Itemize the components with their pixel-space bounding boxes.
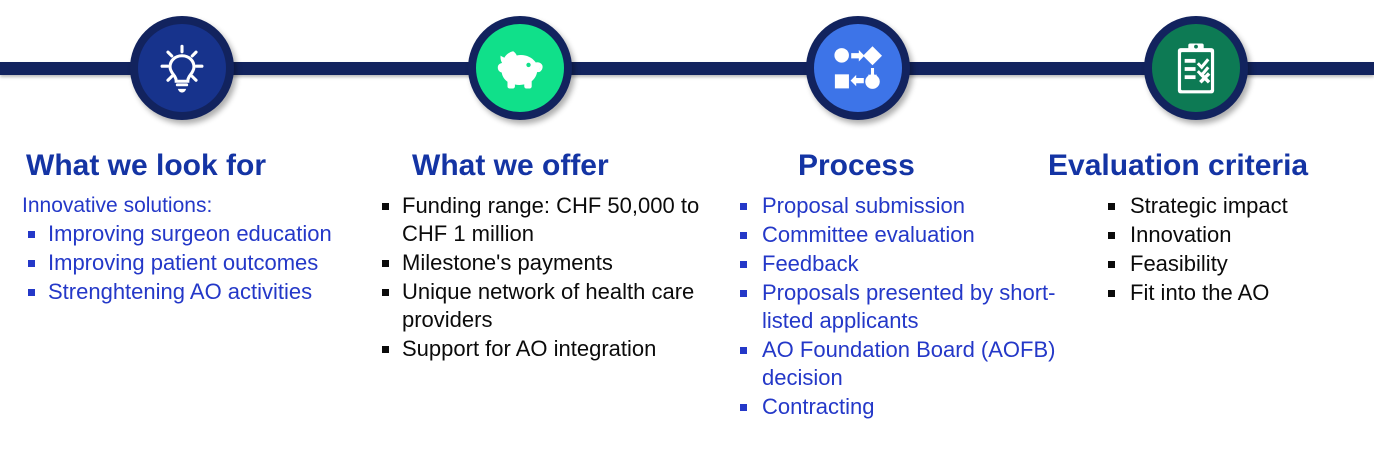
process-flow-icon: [829, 39, 887, 97]
column-what-we-offer: What we offer Funding range: CHF 50,000 …: [360, 148, 728, 364]
process-timeline: [0, 0, 1374, 140]
list-item: Feasibility: [1036, 250, 1374, 278]
list-item: Funding range: CHF 50,000 to CHF 1 milli…: [360, 192, 728, 248]
column-title: What we offer: [360, 148, 728, 184]
list-item: Improving patient outcomes: [4, 249, 360, 277]
piggy-bank-icon: [491, 39, 549, 97]
column-what-we-look-for: What we look for Innovative solutions: I…: [4, 148, 360, 307]
list-item: Strenghtening AO activities: [4, 278, 360, 306]
list-item: Support for AO integration: [360, 335, 728, 363]
list-item: Innovation: [1036, 221, 1374, 249]
column-title: Evaluation criteria: [1036, 148, 1374, 184]
content-columns: What we look for Innovative solutions: I…: [0, 148, 1374, 462]
list-item: Improving surgeon education: [4, 220, 360, 248]
lightbulb-icon: [153, 39, 211, 97]
list-item: Unique network of health care providers: [360, 278, 728, 334]
list-item: Fit into the AO: [1036, 279, 1374, 307]
column-lead-text: Innovative solutions:: [4, 192, 360, 219]
timeline-node-evaluation[interactable]: [1144, 16, 1248, 120]
clipboard-checklist-icon: [1167, 39, 1225, 97]
timeline-node-idea[interactable]: [130, 16, 234, 120]
timeline-node-funding[interactable]: [468, 16, 572, 120]
list-item: Milestone's payments: [360, 249, 728, 277]
list-item: AO Foundation Board (AOFB) decision: [722, 336, 1094, 392]
bullet-list: Improving surgeon education Improving pa…: [4, 220, 360, 306]
bullet-list: Strategic impact Innovation Feasibility …: [1036, 192, 1374, 307]
column-title: What we look for: [4, 148, 360, 184]
list-item: Strategic impact: [1036, 192, 1374, 220]
column-evaluation-criteria: Evaluation criteria Strategic impact Inn…: [1036, 148, 1374, 308]
list-item: Contracting: [722, 393, 1094, 421]
timeline-node-process[interactable]: [806, 16, 910, 120]
bullet-list: Funding range: CHF 50,000 to CHF 1 milli…: [360, 192, 728, 363]
